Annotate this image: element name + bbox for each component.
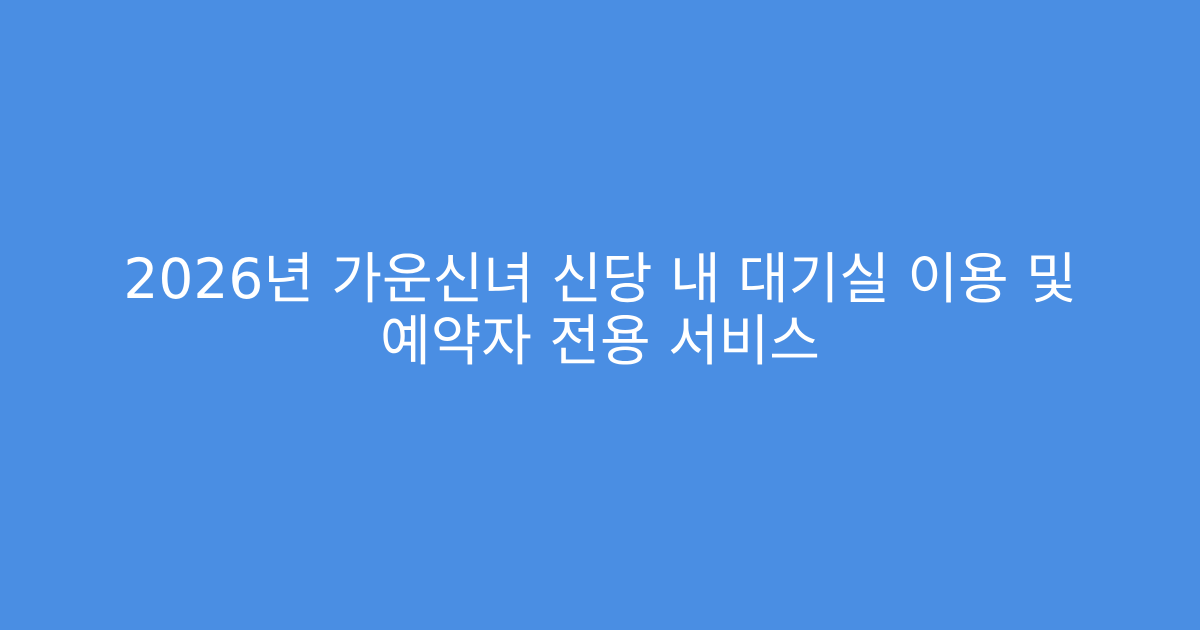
headline-block: 2026년 가운신녀 신당 내 대기실 이용 및 예약자 전용 서비스 bbox=[70, 248, 1130, 372]
page-title: 2026년 가운신녀 신당 내 대기실 이용 및 예약자 전용 서비스 bbox=[90, 248, 1110, 372]
social-share-card: 2026년 가운신녀 신당 내 대기실 이용 및 예약자 전용 서비스 bbox=[0, 0, 1200, 630]
